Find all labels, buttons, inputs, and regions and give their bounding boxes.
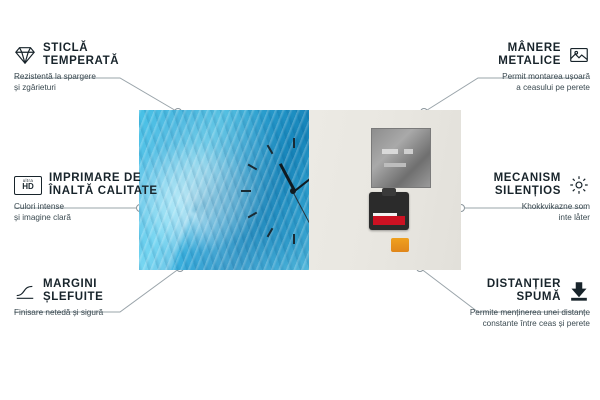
feature-subtitle: Finisare netedă și sigură <box>14 308 174 319</box>
badge-main-text: HD <box>22 183 34 191</box>
metal-mount-plate <box>371 128 431 188</box>
feature-distantier-spuma: DISTANȚIER SPUMĂ Permite menținerea unei… <box>430 278 590 329</box>
down-arrow-block-icon <box>568 280 590 302</box>
feature-subtitle: Rezistentă la spargere și zgârieturi <box>14 72 174 93</box>
foam-spacer <box>391 238 409 252</box>
feature-subtitle: Permit montarea ușoară a ceasului pe per… <box>430 72 590 93</box>
feature-subtitle: Khokkvikazne som inte låter <box>430 202 590 223</box>
feature-title: MECANISM SILENȚIOS <box>494 172 561 198</box>
feature-subtitle: Permite menținerea unei distanțe constan… <box>430 308 590 329</box>
feature-title: MÂNERE METALICE <box>498 42 561 68</box>
gear-icon <box>568 174 590 196</box>
feature-sticla-temperata: STICLĂ TEMPERATĂ Rezistentă la spargere … <box>14 42 174 93</box>
feature-title: IMPRIMARE DE ÎNALTĂ CALITATE <box>49 172 158 198</box>
feature-title: DISTANȚIER SPUMĂ <box>487 278 561 304</box>
ultra-hd-badge-icon: ultra HD <box>14 176 42 195</box>
clock-hour-hand <box>279 163 296 191</box>
feature-imprimare-hd: ultra HD IMPRIMARE DE ÎNALTĂ CALITATE Cu… <box>14 172 174 223</box>
feature-title: STICLĂ TEMPERATĂ <box>43 42 119 68</box>
hook-hardware-pack <box>369 192 409 230</box>
diamond-icon <box>14 44 36 66</box>
feature-title: MARGINI ȘLEFUITE <box>43 278 103 304</box>
feature-mecanism-silentios: MECANISM SILENȚIOS Khokkvikazne som inte… <box>430 172 590 223</box>
picture-hanger-icon <box>568 44 590 66</box>
feature-manere-metalice: MÂNERE METALICE Permit montarea ușoară a… <box>430 42 590 93</box>
product-image <box>139 110 461 270</box>
infographic-canvas: STICLĂ TEMPERATĂ Rezistentă la spargere … <box>0 0 600 400</box>
feature-margini-slefuite: MARGINI ȘLEFUITE Finisare netedă și sigu… <box>14 278 174 319</box>
clock-hub <box>290 188 296 194</box>
bevel-edge-icon <box>14 280 36 302</box>
feature-subtitle: Culori intense și imagine clară <box>14 202 174 223</box>
